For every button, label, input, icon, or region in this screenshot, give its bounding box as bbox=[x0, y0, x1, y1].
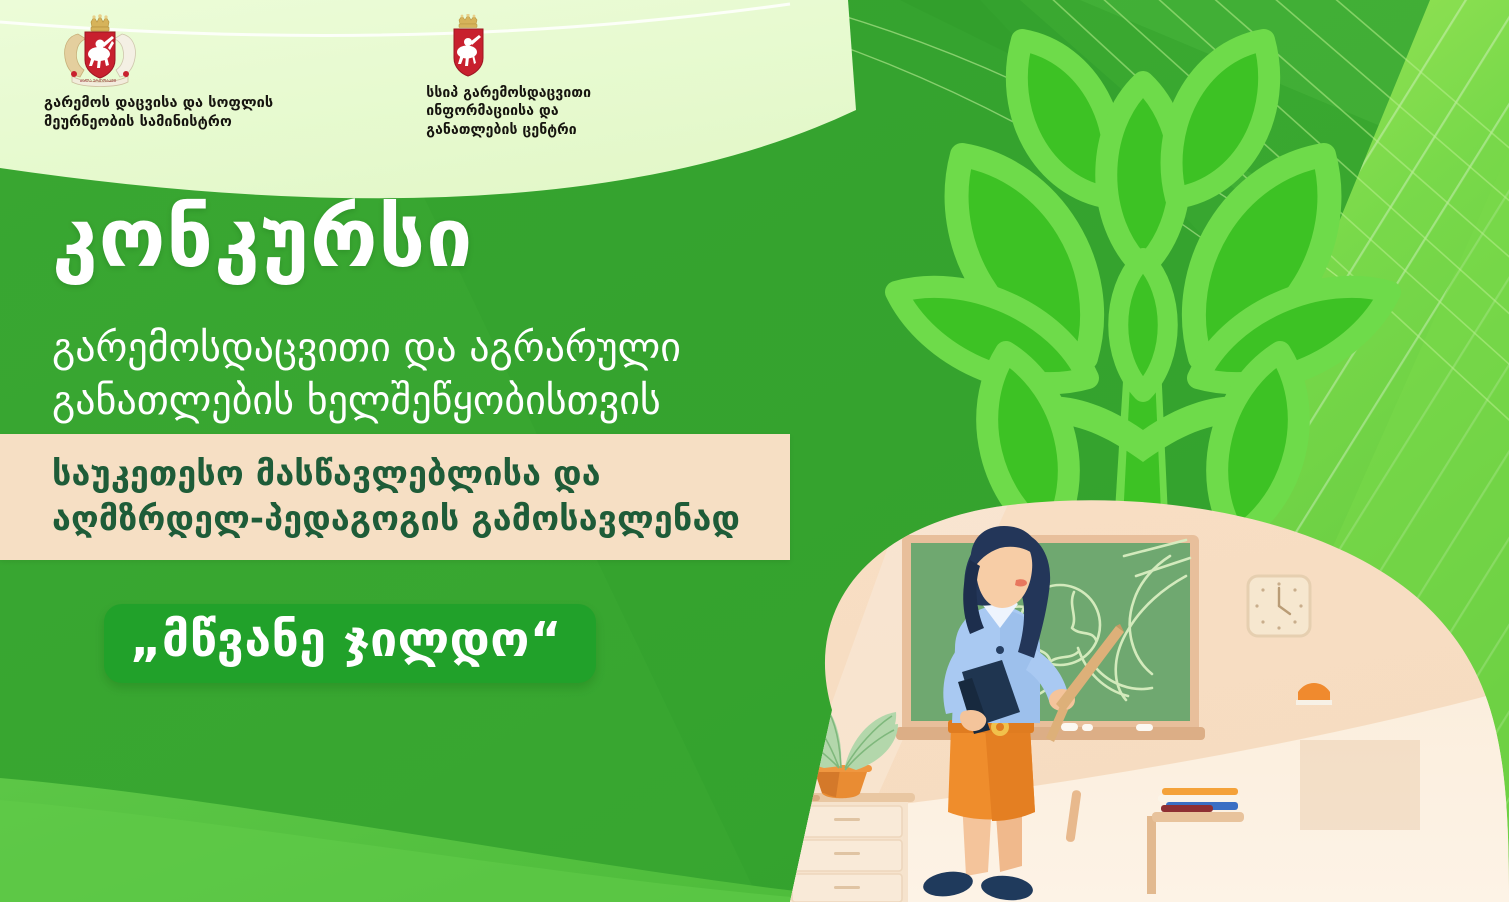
logo-caption-ministry: გარემოს დაცვისა და სოფლის მეურნეობის სამ… bbox=[44, 94, 273, 132]
award-name-label: „მწვანე ჯილდო“ bbox=[130, 614, 562, 667]
stylized-tree-icon bbox=[896, 40, 1390, 560]
page-subtitle: გარემოსდაცვითი და აგრარული განათლების ხე… bbox=[52, 322, 681, 428]
svg-text:ᲫᲐᲚᲐ ᲔᲠᲗᲝᲑᲐᲨᲘ: ᲫᲐᲚᲐ ᲔᲠᲗᲝᲑᲐᲨᲘ bbox=[80, 78, 117, 83]
header-logos: ᲫᲐᲚᲐ ᲔᲠᲗᲝᲑᲐᲨᲘ გარემოს დაცვისა და სოფლის … bbox=[0, 0, 591, 139]
poster-root: ᲫᲐᲚᲐ ᲔᲠᲗᲝᲑᲐᲨᲘ გარემოს დაცვისა და სოფლის … bbox=[0, 0, 1509, 902]
page-title: კონკურსი bbox=[52, 198, 473, 280]
logo-block-center: სსიპ გარემოსდაცვითი ინფორმაციისა და განა… bbox=[426, 14, 591, 139]
banner-line-1: საუკეთესო მასწავლებლისა და bbox=[52, 452, 790, 497]
georgia-coat-of-arms-small-icon bbox=[426, 14, 591, 78]
chalkboard bbox=[896, 535, 1205, 740]
banner-line-2: აღმზრდელ-პედაგოგის გამოსავლენად bbox=[52, 497, 790, 542]
georgia-coat-of-arms-icon: ᲫᲐᲚᲐ ᲔᲠᲗᲝᲑᲐᲨᲘ bbox=[44, 14, 273, 88]
logo-caption-center: სსიპ გარემოსდაცვითი ინფორმაციისა და განა… bbox=[426, 84, 591, 139]
logo-block-ministry: ᲫᲐᲚᲐ ᲔᲠᲗᲝᲑᲐᲨᲘ გარემოს დაცვისა და სოფლის … bbox=[44, 14, 273, 132]
award-name-badge: „მწვანე ჯილდო“ bbox=[104, 604, 596, 683]
highlight-banner: საუკეთესო მასწავლებლისა და აღმზრდელ-პედა… bbox=[0, 434, 790, 560]
wall-clock-icon bbox=[1248, 576, 1310, 636]
